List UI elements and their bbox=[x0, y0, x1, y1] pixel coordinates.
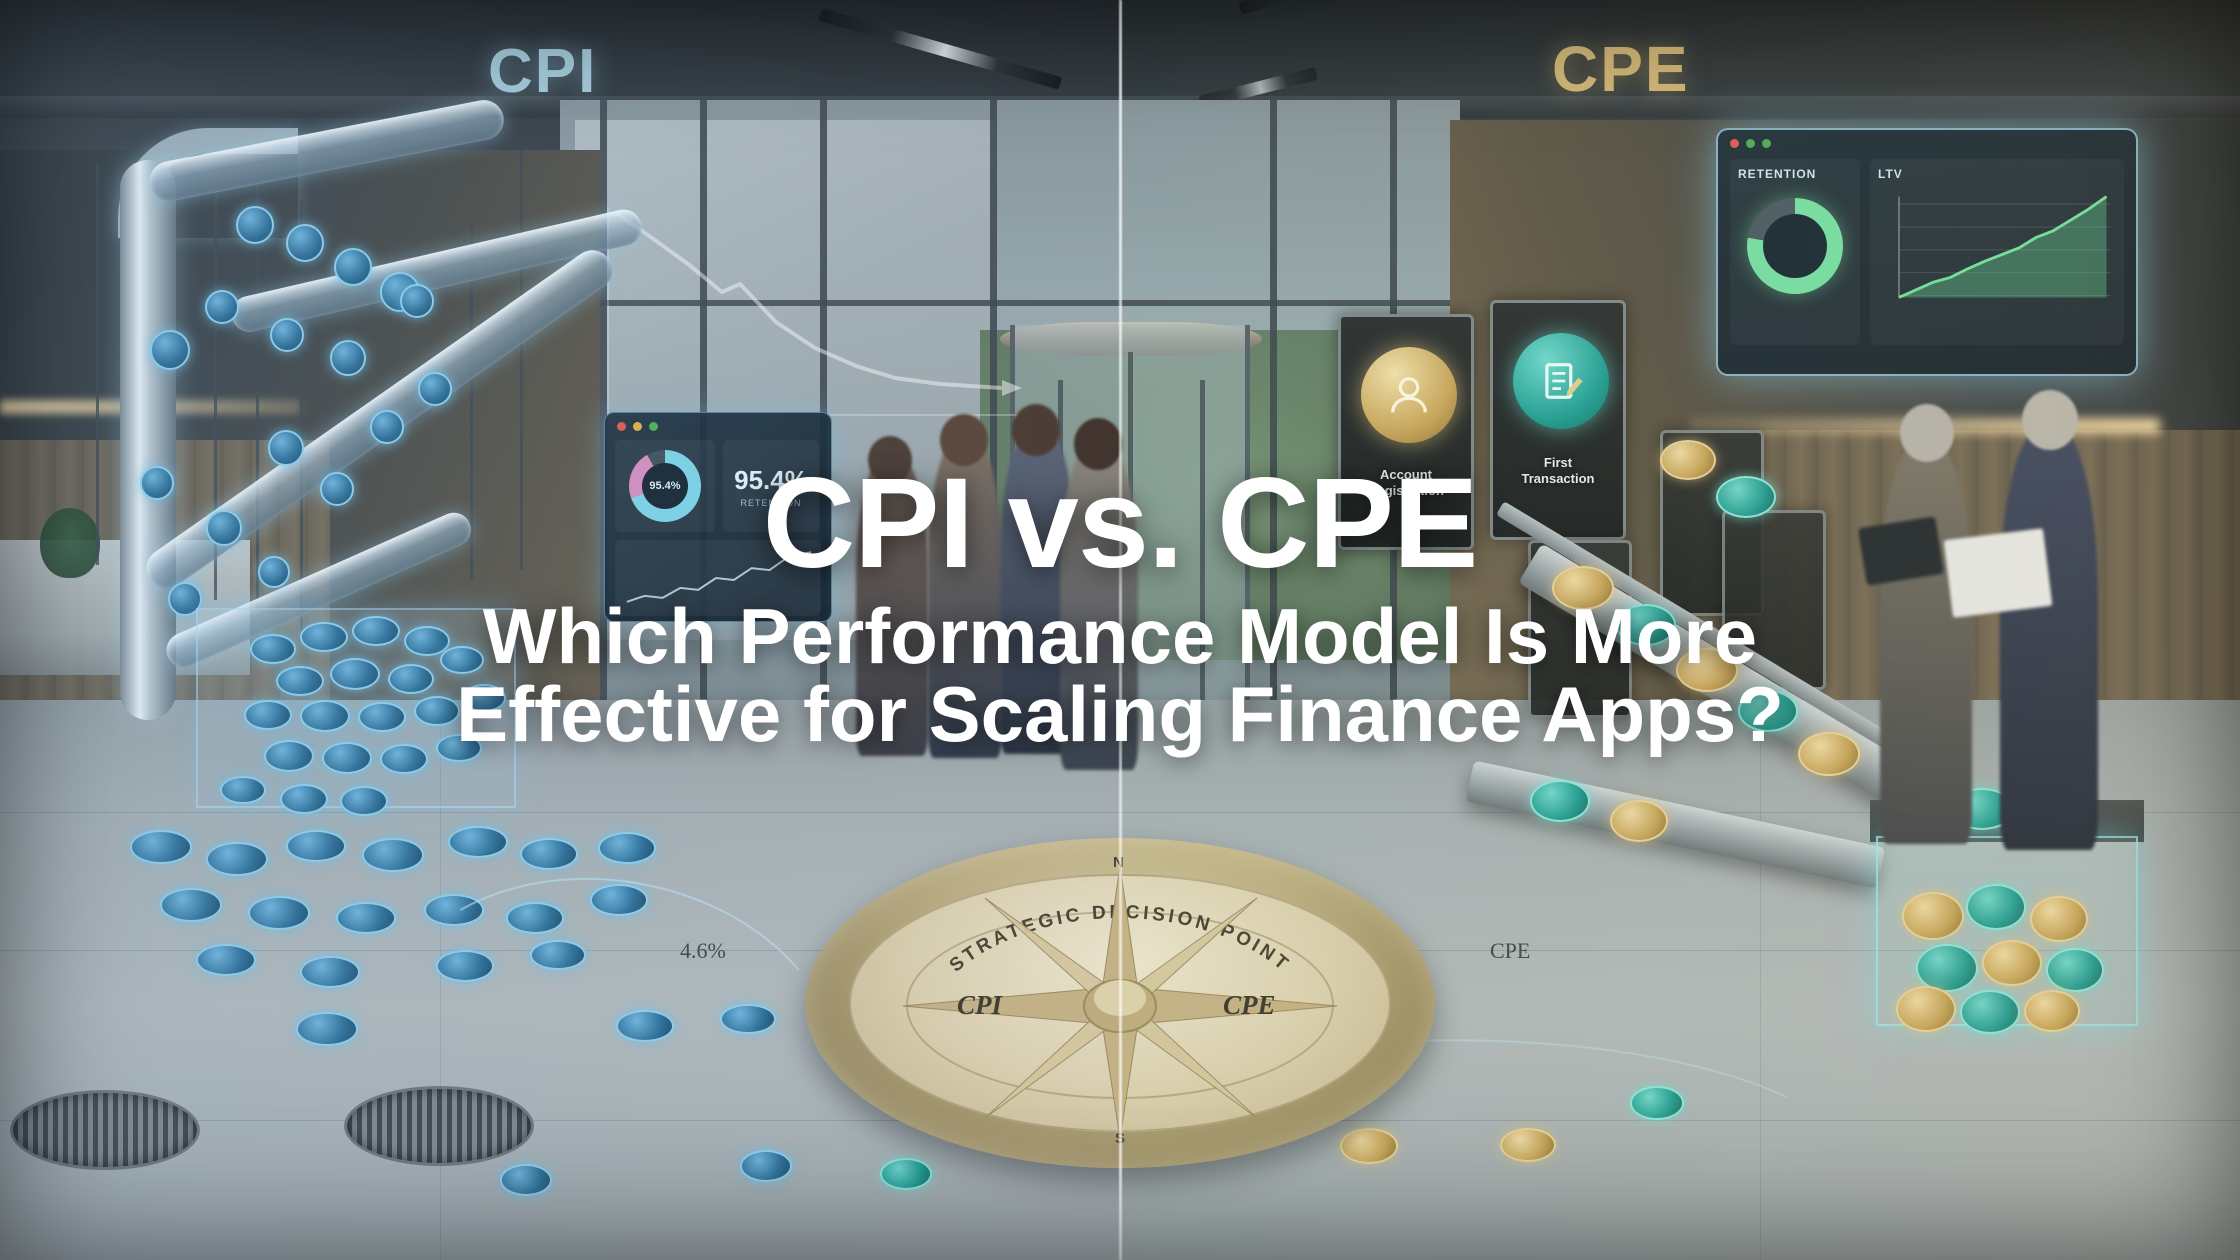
install-coin bbox=[330, 340, 366, 376]
ltv-coin bbox=[2030, 896, 2088, 942]
install-coin-spilled bbox=[160, 888, 222, 922]
hero-banner: CPI CPE bbox=[0, 0, 2240, 1260]
install-decay-chart bbox=[590, 180, 1040, 440]
window-dot-yellow bbox=[633, 422, 642, 431]
install-coin bbox=[418, 372, 452, 406]
retention-tile-label: RETENTION bbox=[1738, 167, 1852, 181]
install-coin-spilled bbox=[448, 826, 508, 858]
install-coin-spilled bbox=[520, 838, 578, 870]
retention-donut bbox=[1747, 198, 1843, 294]
person-head bbox=[1900, 404, 1954, 462]
compass-option-cpe: CPE bbox=[1223, 990, 1276, 1021]
window-dot-green bbox=[649, 422, 658, 431]
person-head bbox=[1012, 404, 1060, 456]
install-coin-spilled bbox=[248, 896, 310, 930]
install-coin-spilled bbox=[206, 842, 268, 876]
window-dot-green bbox=[1762, 139, 1771, 148]
ltv-coin bbox=[1902, 892, 1964, 940]
install-coin bbox=[268, 430, 304, 466]
install-coin-spilled bbox=[130, 830, 192, 864]
document-pen-glyph bbox=[1535, 355, 1587, 407]
ltv-coin bbox=[2024, 990, 2080, 1032]
wall-sign-cpe: CPE bbox=[1552, 32, 1690, 106]
install-coin bbox=[220, 776, 266, 804]
right-dashboard-panel: RETENTION LTV bbox=[1716, 128, 2138, 376]
install-coin-spilled bbox=[300, 956, 360, 988]
install-coin bbox=[205, 290, 239, 324]
gate-label-line1: First bbox=[1493, 455, 1623, 470]
install-coin bbox=[400, 284, 434, 318]
install-coin bbox=[280, 784, 328, 814]
event-coin bbox=[1530, 780, 1590, 822]
install-coin bbox=[286, 224, 324, 262]
page-title: CPI vs. CPE bbox=[0, 470, 2240, 578]
window-dot-red bbox=[617, 422, 626, 431]
window-dot-red bbox=[1730, 139, 1739, 148]
install-coin-spilled bbox=[598, 832, 656, 864]
person-glyph bbox=[1383, 369, 1435, 421]
ltv-tile-label: LTV bbox=[1878, 167, 2116, 181]
floor-note-cpe: CPE bbox=[1490, 938, 1530, 964]
wall-sign-cpi: CPI bbox=[488, 36, 597, 107]
ltv-coin bbox=[1896, 986, 1956, 1032]
floor-note-rate: 4.6% bbox=[680, 938, 726, 964]
install-coin bbox=[150, 330, 190, 370]
ltv-coin bbox=[1982, 940, 2042, 986]
page-subtitle-line1: Which Performance Model Is More bbox=[0, 594, 2240, 678]
install-coin-spilled bbox=[296, 1012, 358, 1046]
ltv-coin bbox=[1960, 990, 2020, 1034]
window-dot-green bbox=[1746, 139, 1755, 148]
page-subtitle-line2: Effective for Scaling Finance Apps? bbox=[0, 672, 2240, 756]
install-coin-spilled bbox=[196, 944, 256, 976]
install-coin bbox=[236, 206, 274, 244]
panel-titlebar bbox=[605, 413, 831, 440]
install-coin bbox=[370, 410, 404, 444]
install-coin-spilled bbox=[336, 902, 396, 934]
ltv-coin bbox=[1966, 884, 2026, 930]
install-coin-floor bbox=[740, 1150, 792, 1182]
install-coin-floor bbox=[500, 1164, 552, 1196]
compass-option-cpi: CPI bbox=[957, 990, 1002, 1021]
install-coin bbox=[340, 786, 388, 816]
document-pen-icon bbox=[1513, 333, 1609, 429]
ltv-area-chart bbox=[1878, 181, 2116, 313]
headline-block: CPI vs. CPE Which Performance Model Is M… bbox=[0, 470, 2240, 756]
drain-left bbox=[10, 1090, 200, 1170]
ltv-coin bbox=[1916, 944, 1978, 992]
event-coin bbox=[1610, 800, 1668, 842]
install-coin bbox=[334, 248, 372, 286]
install-coin bbox=[270, 318, 304, 352]
ltv-coin bbox=[2046, 948, 2104, 992]
install-coin-spilled bbox=[286, 830, 346, 862]
install-coin-spilled bbox=[362, 838, 424, 872]
person-head bbox=[2022, 390, 2078, 450]
person-icon bbox=[1361, 347, 1457, 443]
panel-titlebar bbox=[1718, 130, 2136, 157]
